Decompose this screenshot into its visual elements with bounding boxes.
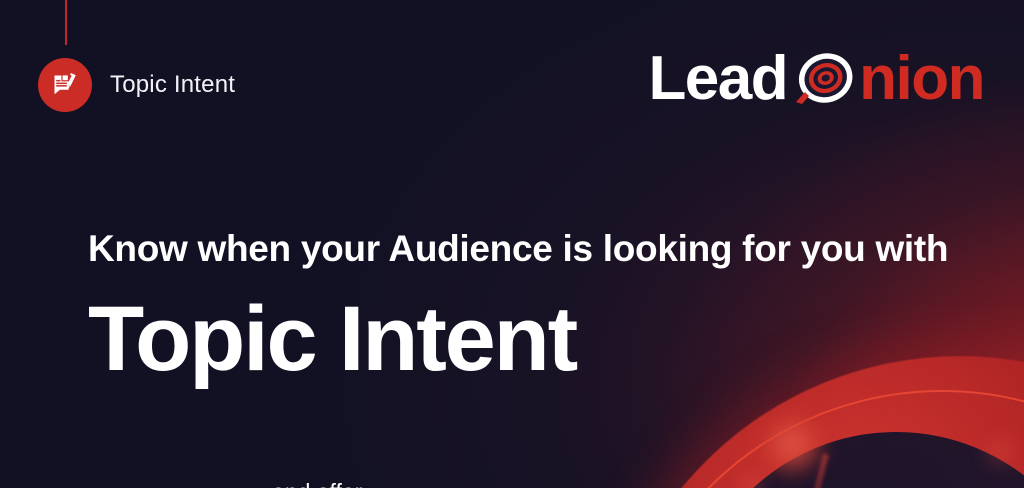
hero-subheadline: Know when your Audience is looking for y… xyxy=(88,228,998,269)
header: Topic Intent xyxy=(38,58,235,112)
accent-vertical-rule xyxy=(65,0,67,45)
brand-name-nion: nion xyxy=(859,48,984,110)
bokeh-light-large xyxy=(760,414,824,474)
hero-copy: Know when your Audience is looking for y… xyxy=(88,228,998,389)
onion-target-icon xyxy=(791,48,861,110)
brand-logo[interactable]: Lead nion xyxy=(648,48,984,110)
hero-headline: Topic Intent xyxy=(88,291,998,389)
brand-name-lead: Lead xyxy=(648,48,787,110)
topic-intent-icon xyxy=(38,58,92,112)
header-label: Topic Intent xyxy=(110,71,235,99)
slide-canvas: Topic Intent Lead nion Know when your Au… xyxy=(0,0,1024,488)
hero-body-partial-text: and offer xyxy=(272,479,792,488)
hero-body-partial: and offer xyxy=(272,479,792,488)
bokeh-light-edge xyxy=(986,436,1016,466)
